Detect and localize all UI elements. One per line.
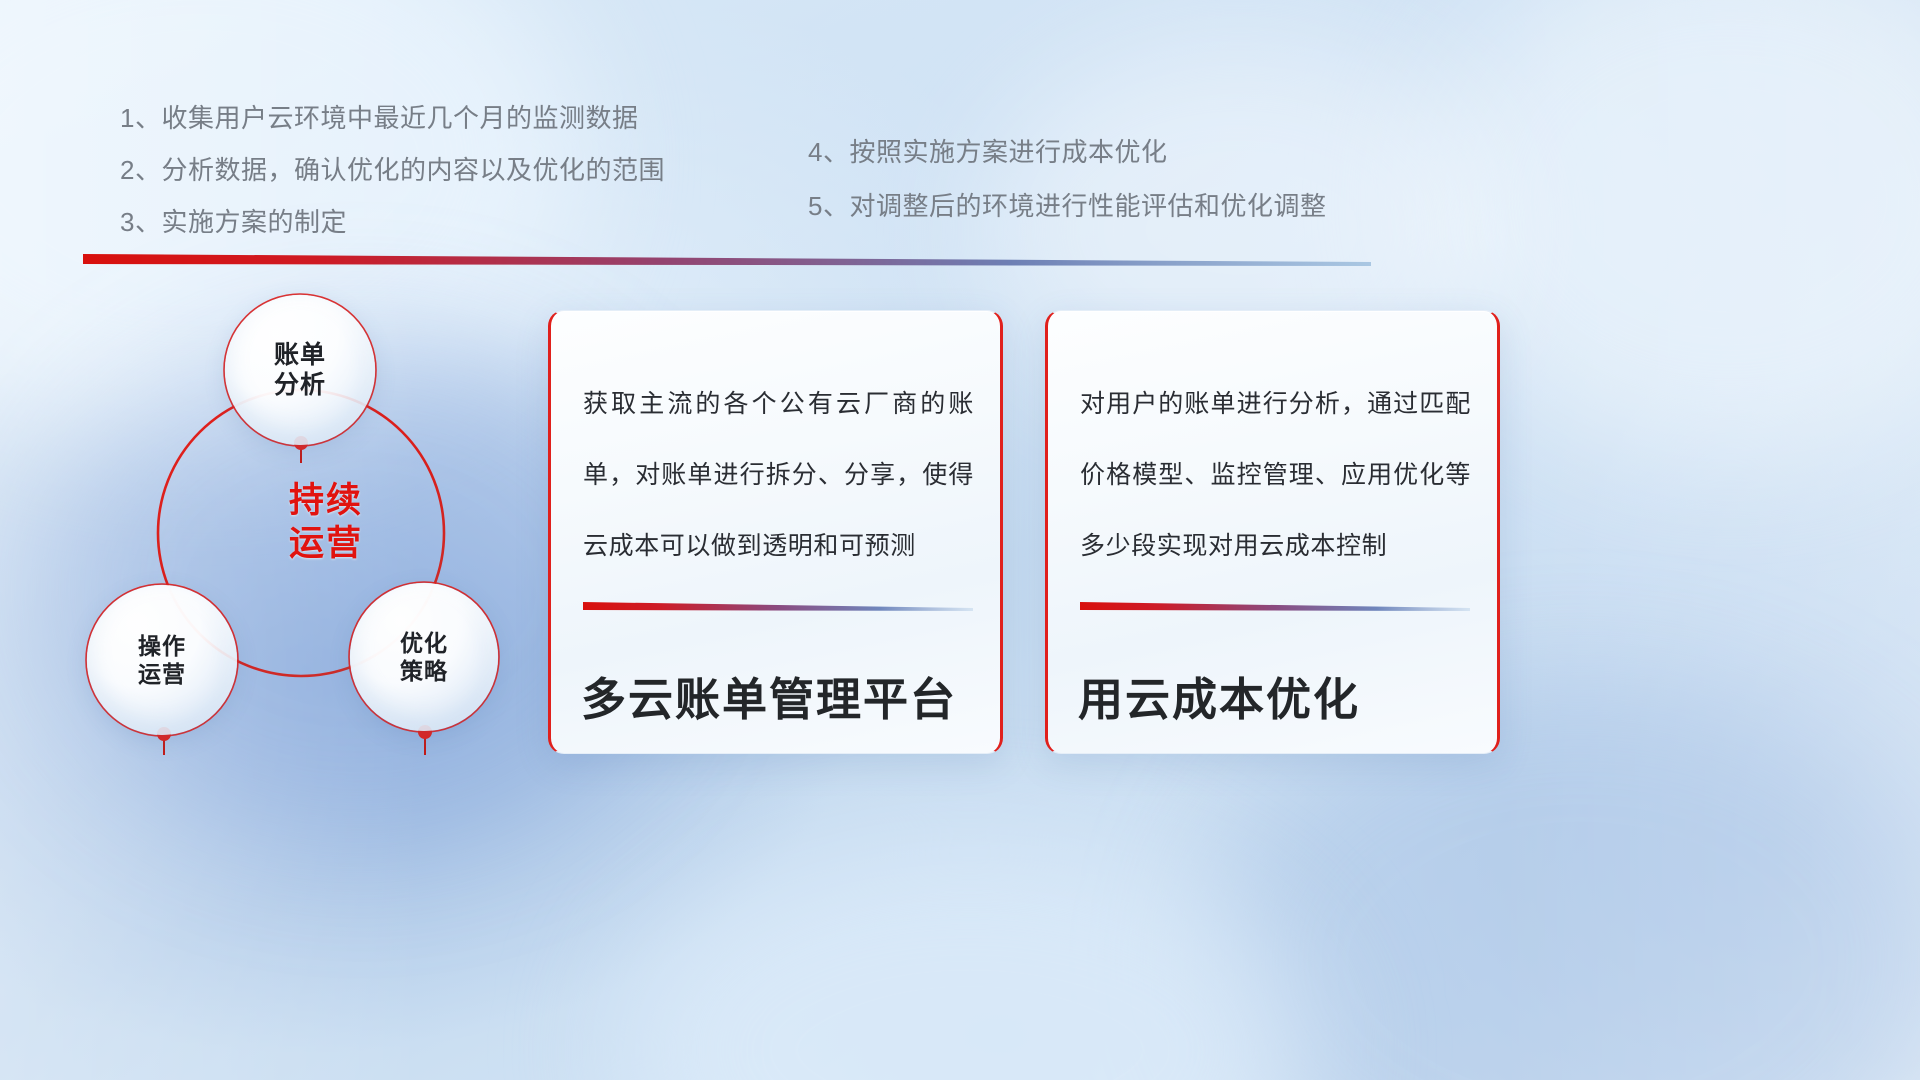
card-2-body: 对用户的账单进行分析，通过匹配价格模型、监控管理、应用优化等多少段实现对用云成本…	[1080, 369, 1471, 582]
bubble-optimization-strategy[interactable]: 优化 策略	[350, 583, 498, 731]
card-multicloud-billing-platform[interactable]: 获取主流的各个公有云厂商的账单，对账单进行拆分、分享，使得云成本可以做到透明和可…	[548, 310, 1003, 754]
bubble-operation-line1: 操作	[138, 632, 186, 660]
bubble-bill-analysis[interactable]: 账单 分析	[225, 295, 375, 445]
cards-section: 获取主流的各个公有云厂商的账单，对账单进行拆分、分享，使得云成本可以做到透明和可…	[548, 310, 1888, 760]
slide-canvas: 1、收集用户云环境中最近几个月的监测数据 2、分析数据，确认优化的内容以及优化的…	[0, 0, 1920, 1080]
step-item-5: 5、对调整后的环境进行性能评估和优化调整	[808, 179, 1326, 233]
card-1-title: 多云账单管理平台	[581, 663, 980, 728]
step-item-4: 4、按照实施方案进行成本优化	[808, 125, 1326, 179]
bubble-optimization-strategy-line1: 优化	[400, 629, 448, 657]
step-item-1: 1、收集用户云环境中最近几个月的监测数据	[120, 92, 665, 144]
continuous-operation-diagram: 账单 分析 操作 运营 优化 策略 持续 运营	[80, 285, 550, 775]
steps-column-left: 1、收集用户云环境中最近几个月的监测数据 2、分析数据，确认优化的内容以及优化的…	[120, 92, 665, 248]
diagram-center-label-line2: 运营	[256, 523, 396, 566]
steps-section: 1、收集用户云环境中最近几个月的监测数据 2、分析数据，确认优化的内容以及优化的…	[0, 92, 1920, 242]
steps-column-right: 4、按照实施方案进行成本优化 5、对调整后的环境进行性能评估和优化调整	[808, 125, 1326, 233]
bubble-optimization-strategy-line2: 策略	[400, 657, 448, 685]
step-item-3: 3、实施方案的制定	[120, 196, 665, 248]
card-2-title: 用云成本优化	[1078, 663, 1477, 728]
card-1-accent-rule	[583, 601, 973, 612]
bubble-bill-analysis-line2: 分析	[274, 370, 326, 401]
diagram-center-label: 持续 运营	[256, 480, 396, 565]
card-1-body: 获取主流的各个公有云厂商的账单，对账单进行拆分、分享，使得云成本可以做到透明和可…	[583, 369, 974, 582]
step-item-2: 2、分析数据，确认优化的内容以及优化的范围	[120, 144, 665, 196]
card-2-accent-rule	[1080, 601, 1470, 612]
bubble-operation[interactable]: 操作 运营	[87, 585, 237, 735]
section-divider	[83, 253, 1371, 267]
bubble-bill-analysis-line1: 账单	[274, 340, 326, 371]
diagram-center-label-line1: 持续	[256, 480, 396, 523]
card-cloud-cost-optimization[interactable]: 对用户的账单进行分析，通过匹配价格模型、监控管理、应用优化等多少段实现对用云成本…	[1045, 310, 1500, 754]
bubble-operation-line2: 运营	[138, 660, 186, 688]
